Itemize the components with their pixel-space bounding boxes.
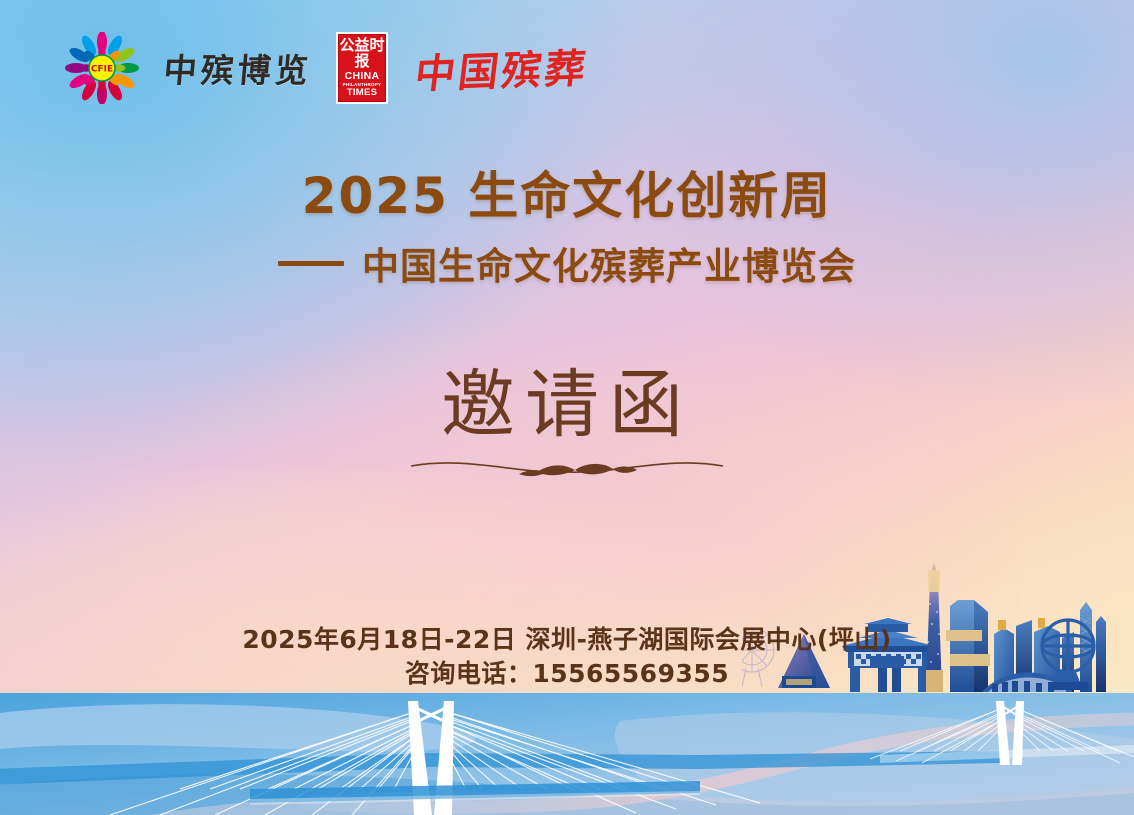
event-date-venue: 2025年6月18日-22日 深圳-燕子湖国际会展中心(坪山) (0, 623, 1134, 657)
header-logo-row: CFIE 中殡博览 公益时报 CHINA PHILANTHROPY TIMES … (64, 32, 588, 104)
invitation-word: 邀请函 (0, 368, 1134, 442)
cpt-badge-en-china: CHINA (345, 71, 380, 82)
event-info-block: 2025年6月18日-22日 深圳-燕子湖国际会展中心(坪山) 咨询电话：155… (0, 623, 1134, 691)
em-dash-rule (278, 261, 344, 266)
bay-water-illustration (0, 693, 1134, 815)
invitation-poster: CFIE 中殡博览 公益时报 CHINA PHILANTHROPY TIMES … (0, 0, 1134, 815)
cpt-badge-chinese: 公益时报 (338, 37, 386, 69)
leaf-flourish-divider (407, 450, 727, 484)
china-philanthropy-times-badge: 公益时报 CHINA PHILANTHROPY TIMES (336, 32, 388, 104)
cpt-badge-en-times: TIMES (347, 88, 378, 98)
svg-text:CFIE: CFIE (91, 65, 113, 75)
poster-subtitle: 中国生命文化殡葬产业博览会 (362, 236, 856, 290)
poster-main-title: 2025 生命文化创新周 (0, 156, 1134, 228)
event-contact-phone: 咨询电话：15565569355 (0, 657, 1134, 691)
invitation-block: 邀请函 (0, 368, 1134, 484)
china-funeral-calligraphy: 中国殡葬 (412, 36, 592, 100)
cfie-flower-logo: CFIE (64, 32, 140, 104)
poster-subtitle-row: 中国生命文化殡葬产业博览会 (0, 236, 1134, 290)
organizer-wordmark: 中殡博览 (162, 44, 314, 92)
